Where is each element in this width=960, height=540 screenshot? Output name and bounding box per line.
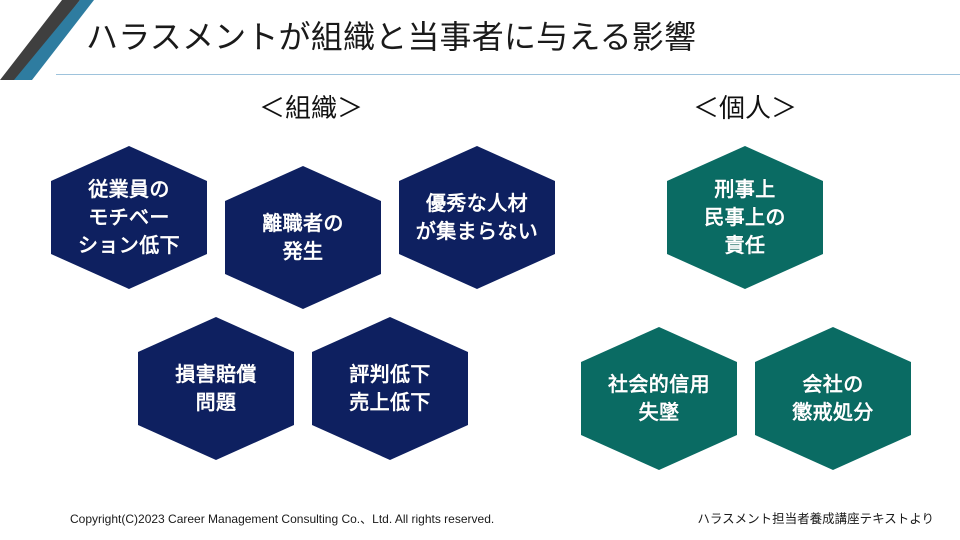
hex-label-ind-1: 刑事上 民事上の 責任 [667, 168, 823, 268]
page-title: ハラスメントが組織と当事者に与える影響 [86, 14, 696, 60]
group-header-individual: ＜個人＞ [620, 92, 870, 124]
hex-label-ind-2: 社会的信用 失墜 [579, 363, 739, 435]
hex-label-org-5: 評判低下 売上低下 [312, 353, 468, 425]
hex-label-ind-3: 会社の 懲戒処分 [755, 363, 911, 435]
group-header-organization: ＜組織＞ [186, 92, 436, 124]
hexagon-diagram [0, 0, 960, 540]
title-bar: ハラスメントが組織と当事者に与える影響 [0, 0, 960, 76]
hex-label-org-4: 損害賠償 問題 [138, 353, 294, 425]
footer-source-note: ハラスメント担当者養成講座テキストより [697, 511, 934, 527]
footer-copyright: Copyright(C)2023 Career Management Consu… [70, 511, 494, 527]
hex-label-org-1: 従業員の モチベー ション低下 [51, 168, 207, 268]
title-divider [56, 74, 960, 75]
hex-label-org-2: 離職者の 発生 [225, 202, 381, 274]
hex-label-org-3: 優秀な人材 が集まらない [397, 182, 557, 254]
slide-canvas: ハラスメントが組織と当事者に与える影響 ＜組織＞ ＜個人＞ 従業員の モチベー … [0, 0, 960, 540]
